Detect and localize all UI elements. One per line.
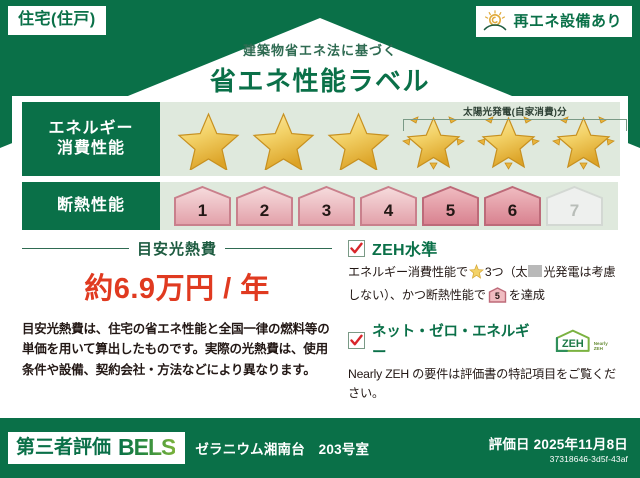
- house-type-badge-label: 住宅(住戸): [18, 11, 96, 28]
- evaluation-info: 評価日 2025年11月8日 37318646-3d5f-43af: [489, 433, 628, 464]
- energy-label-line1: エネルギー: [48, 119, 133, 139]
- zeh-house-logo: ZEH Nearly ZEH: [553, 328, 618, 354]
- label-title-main: 省エネ性能ラベル: [0, 61, 640, 98]
- label-detail-columns: 目安光熱費 約6.9万円 / 年 目安光熱費は、住宅の省エネ性能と全国一律の燃料…: [22, 236, 618, 414]
- zeh-standard-title: ZEH水準: [372, 236, 438, 260]
- check-icon: [350, 334, 363, 347]
- evaluation-id: 37318646-3d5f-43af: [489, 454, 628, 464]
- renewable-badge-label: 再エネ設備あり: [513, 14, 622, 29]
- label-title-block: 建築物省エネ法に基づく 省エネ性能ラベル: [0, 40, 640, 98]
- energy-performance-label-box: エネルギー 消費性能: [22, 102, 160, 176]
- insulation-level-scale: 1 2 3: [160, 182, 605, 230]
- solar-portion-caption: 太陽光発電(自家消費)分: [403, 104, 627, 118]
- insulation-level-5-number: 5: [420, 185, 481, 227]
- label-main-card: エネルギー 消費性能 太陽光発電(自家消費)分: [12, 96, 628, 418]
- building-name: ゼラニウム湘南台 203号室: [195, 438, 369, 458]
- cost-rule-right: [225, 248, 332, 250]
- label-title-sub: 建築物省エネ法に基づく: [0, 40, 640, 59]
- insulation-level-4-number: 4: [358, 185, 419, 227]
- sun-solar-icon: [482, 10, 508, 32]
- zeh-standard-checkbox[interactable]: [348, 240, 365, 257]
- inline-house-number: 5: [488, 287, 507, 303]
- zeh-standard-block: ZEH水準 エネルギー消費性能で3つ（太光発電は考慮しない）、かつ断熱性能で5を…: [348, 236, 618, 310]
- energy-label-line2: 消費性能: [57, 139, 125, 159]
- zeh-standard-description: エネルギー消費性能で3つ（太光発電は考慮しない）、かつ断熱性能で5を達成: [348, 263, 618, 310]
- net-zero-energy-title: ネット・ゼロ・エネルギー: [372, 320, 542, 362]
- utility-cost-note: 目安光熱費は、住宅の省エネ性能と全国一律の燃料等の単価を用いて算出したものです。…: [22, 319, 332, 380]
- star-filled-1: [172, 106, 245, 170]
- evaluation-date: 評価日 2025年11月8日: [489, 433, 628, 453]
- redaction-block: [528, 265, 542, 277]
- insulation-label: 断熱性能: [57, 196, 125, 216]
- insulation-level-7: 7: [544, 185, 605, 227]
- utility-cost-column: 目安光熱費 約6.9万円 / 年 目安光熱費は、住宅の省エネ性能と全国一律の燃料…: [22, 236, 340, 414]
- net-zero-energy-checkbox[interactable]: [348, 332, 365, 349]
- zeh-desc-text-1: エネルギー消費性能で: [348, 265, 468, 279]
- bels-logo-box: 第三者評価 BELS: [8, 432, 185, 464]
- insulation-performance-row: 断熱性能 1: [22, 182, 618, 230]
- solar-portion-bracket: [403, 119, 627, 131]
- star-filled-3: [322, 106, 395, 170]
- insulation-level-5: 5: [420, 185, 481, 227]
- insulation-level-6-number: 6: [482, 185, 543, 227]
- inline-house-icon: 5: [488, 287, 507, 310]
- zeh-desc-text-2: 3つ（太: [485, 265, 528, 279]
- cost-rule-left: [22, 248, 129, 250]
- net-zero-energy-description: Nearly ZEH の要件は評価書の特記項目をご覧ください。: [348, 365, 618, 405]
- zeh-logo-icon: ZEH: [553, 328, 593, 354]
- insulation-performance-label-box: 断熱性能: [22, 182, 160, 230]
- house-type-badge: 住宅(住戸): [8, 6, 106, 35]
- utility-cost-heading: 目安光熱費: [22, 238, 332, 259]
- insulation-level-1-number: 1: [172, 185, 233, 227]
- renewable-equipment-badge: 再エネ設備あり: [476, 6, 632, 37]
- star-filled-2: [247, 106, 320, 170]
- zeh-standard-heading: ZEH水準: [348, 236, 618, 260]
- utility-cost-value: 約6.9万円 / 年: [22, 265, 332, 307]
- insulation-level-6: 6: [482, 185, 543, 227]
- inline-star-icon: [469, 264, 484, 286]
- zeh-logo-subtext: Nearly ZEH: [594, 342, 618, 354]
- label-footer: 第三者評価 BELS ゼラニウム湘南台 203号室 評価日 2025年11月8日…: [0, 418, 640, 478]
- energy-performance-label: 住宅(住戸) 再エネ設備あり 建築物省エネ法に基づく 省エネ性能ラベル エネルギ…: [0, 0, 640, 478]
- insulation-level-3: 3: [296, 185, 357, 227]
- insulation-level-2-number: 2: [234, 185, 295, 227]
- insulation-level-7-number: 7: [544, 185, 605, 227]
- check-icon: [350, 242, 363, 255]
- insulation-level-2: 2: [234, 185, 295, 227]
- energy-performance-body: 太陽光発電(自家消費)分: [160, 102, 620, 176]
- insulation-level-4: 4: [358, 185, 419, 227]
- insulation-level-1: 1: [172, 185, 233, 227]
- net-zero-energy-block: ネット・ゼロ・エネルギー ZEH Nearly ZEH Nearly ZEH の…: [348, 320, 618, 405]
- zeh-column: ZEH水準 エネルギー消費性能で3つ（太光発電は考慮しない）、かつ断熱性能で5を…: [340, 236, 618, 414]
- zeh-desc-text-4: を達成: [509, 288, 545, 302]
- insulation-level-3-number: 3: [296, 185, 357, 227]
- bels-en-label: BELS: [118, 436, 175, 459]
- energy-performance-row: エネルギー 消費性能 太陽光発電(自家消費)分: [22, 102, 618, 176]
- utility-cost-heading-label: 目安光熱費: [137, 238, 217, 259]
- insulation-performance-body: 1 2 3: [160, 182, 618, 230]
- net-zero-energy-heading: ネット・ゼロ・エネルギー ZEH Nearly ZEH: [348, 320, 618, 362]
- svg-text:ZEH: ZEH: [562, 337, 584, 349]
- bels-jp-label: 第三者評価: [16, 438, 111, 457]
